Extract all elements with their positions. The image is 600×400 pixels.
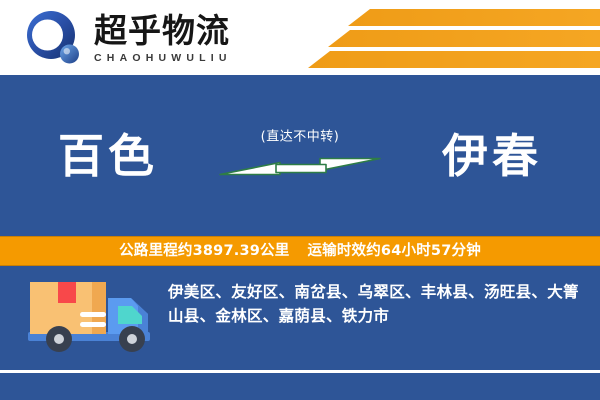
duration-text: 运输时效约64小时57分钟 — [307, 241, 480, 261]
circle-q-logo-icon — [22, 7, 84, 69]
route-info-bar: 公路里程约3897.39公里 运输时效约64小时57分钟 — [0, 236, 600, 266]
coverage-section: 伊美区、友好区、南岔县、乌翠区、丰林县、汤旺县、大箐山县、金林区、嘉荫县、铁力市 — [0, 266, 600, 400]
origin-city: 百色 — [58, 133, 158, 179]
delivery-truck-icon — [26, 276, 161, 361]
distance-text: 公路里程约3897.39公里 — [119, 241, 289, 261]
banner-header: 超乎物流 CHAOHUWULIU — [0, 0, 600, 75]
brand-name-cn: 超乎物流 — [94, 12, 232, 50]
brand-name-en: CHAOHUWULIU — [94, 51, 232, 65]
logistics-route-banner: 超乎物流 CHAOHUWULIU 百色 (直达不中转) — [0, 0, 600, 400]
header-stripes-decoration — [270, 0, 600, 75]
brand-logo[interactable]: 超乎物流 CHAOHUWULIU — [22, 7, 232, 69]
destination-city: 伊春 — [442, 133, 542, 179]
road-divider-line — [0, 370, 600, 373]
coverage-areas-text: 伊美区、友好区、南岔县、乌翠区、丰林县、汤旺县、大箐山县、金林区、嘉荫县、铁力市 — [168, 280, 580, 328]
route-direction-group: (直达不中转) 【往返运输】 — [200, 129, 400, 182]
bidirectional-arrow-icon — [218, 150, 382, 182]
route-note-direct: (直达不中转) — [261, 129, 340, 145]
route-hero: 百色 (直达不中转) 【往返运输】 伊春 — [0, 75, 600, 236]
